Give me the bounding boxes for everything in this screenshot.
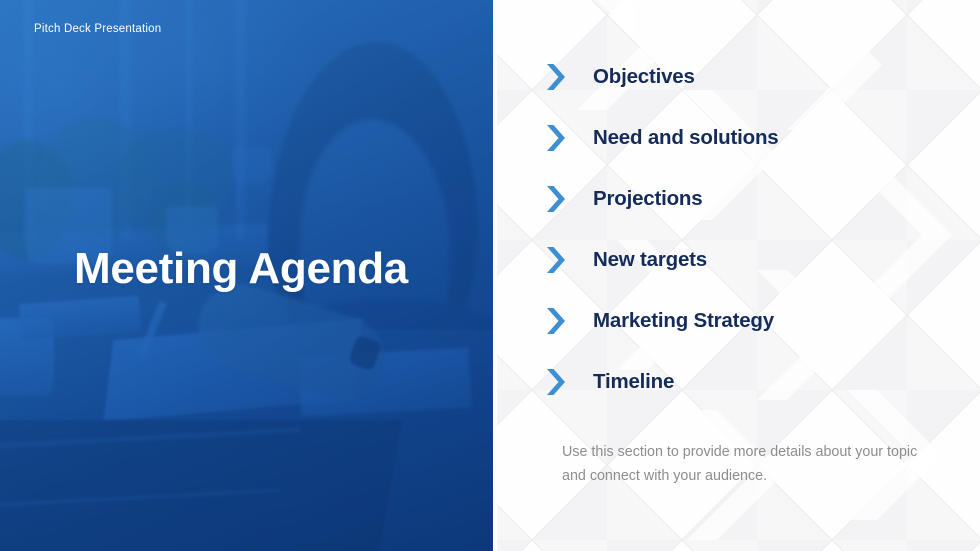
chevron-right-icon: [545, 125, 567, 151]
agenda-item-label: Objectives: [593, 65, 695, 89]
chevron-right-icon: [545, 369, 567, 395]
agenda-item-label: Need and solutions: [593, 126, 778, 150]
agenda-item-label: Marketing Strategy: [593, 309, 774, 333]
agenda-item-5[interactable]: Timeline: [545, 367, 674, 397]
agenda-item-label: New targets: [593, 248, 707, 272]
deck-label: Pitch Deck Presentation: [34, 23, 161, 35]
section-description: Use this section to provide more details…: [562, 440, 922, 488]
agenda-item-label: Projections: [593, 187, 702, 211]
left-image-panel: Pitch Deck Presentation Meeting Agenda: [0, 0, 493, 551]
presentation-slide: Pitch Deck Presentation Meeting Agenda: [0, 0, 980, 551]
agenda-item-0[interactable]: Objectives: [545, 62, 695, 92]
agenda-item-3[interactable]: New targets: [545, 245, 707, 275]
chevron-right-icon: [545, 186, 567, 212]
right-content-panel: Objectives Need and solutions Projection…: [497, 0, 980, 551]
agenda-item-2[interactable]: Projections: [545, 184, 702, 214]
chevron-right-icon: [545, 247, 567, 273]
chevron-right-icon: [545, 308, 567, 334]
agenda-item-4[interactable]: Marketing Strategy: [545, 306, 774, 336]
page-title: Meeting Agenda: [74, 244, 408, 294]
chevron-right-icon: [545, 64, 567, 90]
agenda-item-label: Timeline: [593, 370, 674, 394]
agenda-item-1[interactable]: Need and solutions: [545, 123, 778, 153]
